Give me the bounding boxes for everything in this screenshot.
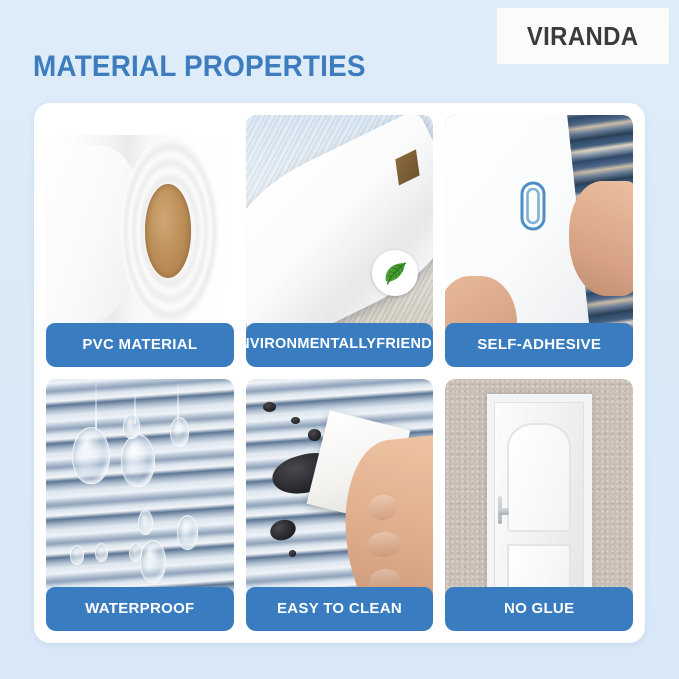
features-grid: PVC MATERIAL (46, 115, 633, 631)
water-droplet (140, 540, 166, 582)
feature-label-line-2: FRIENDLY (376, 337, 433, 352)
water-droplet (123, 414, 140, 439)
feature-label-environmentally-friendly: ENVIRONMENTALLY FRIENDLY (246, 323, 434, 367)
feature-card-easy-to-clean[interactable]: EASY TO CLEAN (246, 379, 434, 631)
door-handle-shape (498, 508, 509, 515)
door-upper-panel-shape (507, 423, 570, 532)
water-droplet (138, 510, 153, 535)
water-droplet (95, 543, 108, 563)
water-droplet (129, 543, 142, 563)
brand-badge: VIRANDA (497, 8, 669, 64)
water-droplet (72, 427, 110, 484)
water-droplet (70, 545, 83, 565)
feature-card-pvc-material[interactable]: PVC MATERIAL (46, 115, 234, 367)
features-panel: PVC MATERIAL (34, 103, 645, 643)
water-droplet (177, 515, 198, 550)
stain-mark (263, 402, 276, 412)
infographic-page: VIRANDA MATERIAL PROPERTIES PVC MATERIAL (0, 0, 679, 679)
roll-core-shape (145, 184, 192, 277)
paperclip-icon (520, 181, 546, 231)
brand-name: VIRANDA (527, 21, 639, 52)
page-title: MATERIAL PROPERTIES (33, 50, 366, 84)
feature-label-line-1: ENVIRONMENTALLY (246, 337, 377, 352)
feature-label-waterproof: WATERPROOF (46, 587, 234, 631)
leaf-icon (380, 258, 410, 288)
water-droplet (170, 417, 189, 447)
water-droplet (121, 434, 155, 486)
feature-label-self-adhesive: SELF-ADHESIVE (445, 323, 633, 367)
feature-label-pvc-material: PVC MATERIAL (46, 323, 234, 367)
knuckle-shape (367, 494, 399, 522)
feature-card-waterproof[interactable]: WATERPROOF (46, 379, 234, 631)
feature-card-self-adhesive[interactable]: SELF-ADHESIVE (445, 115, 633, 367)
feature-label-no-glue: NO GLUE (445, 587, 633, 631)
feature-card-environmentally-friendly[interactable]: ENVIRONMENTALLY FRIENDLY (246, 115, 434, 367)
feature-card-no-glue[interactable]: NO GLUE (445, 379, 633, 631)
feature-label-easy-to-clean: EASY TO CLEAN (246, 587, 434, 631)
knuckle-shape (366, 531, 402, 559)
door-leaf-shape (494, 402, 584, 606)
stain-mark (308, 429, 321, 440)
